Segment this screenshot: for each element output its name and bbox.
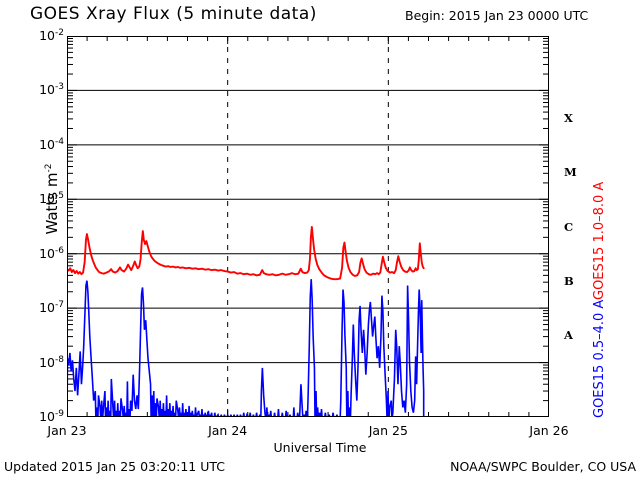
x-tick-label: Jan 24	[196, 423, 260, 438]
page-title: GOES Xray Flux (5 minute data)	[30, 4, 317, 24]
footer-updated: Updated 2015 Jan 25 03:20:11 UTC	[4, 459, 225, 474]
flare-class-label-c: C	[564, 220, 573, 234]
flare-class-label-b: B	[564, 274, 574, 288]
y-tick-label: 10-8	[20, 355, 64, 370]
flare-class-label-m: M	[564, 165, 577, 179]
y-axis-title-exponent: -2	[44, 164, 54, 173]
x-axis-title: Universal Time	[0, 440, 640, 455]
y-tick-label: 10-3	[20, 82, 64, 97]
begin-time-label: Begin: 2015 Jan 23 0000 UTC	[405, 8, 588, 23]
legend-label-red: GOES15 1.0–8.0 A	[592, 182, 607, 300]
y-tick-label: 10-2	[20, 28, 64, 43]
flare-class-label-a: A	[564, 328, 573, 342]
chart-plot-area	[67, 36, 549, 417]
flare-class-label-x: X	[564, 111, 573, 125]
y-tick-label: 10-4	[20, 137, 64, 152]
y-tick-label: 10-7	[20, 300, 64, 315]
x-tick-label: Jan 25	[356, 423, 420, 438]
x-tick-label: Jan 26	[517, 423, 581, 438]
y-tick-label: 10-9	[20, 409, 64, 424]
y-tick-label: 10-5	[20, 191, 64, 206]
y-tick-label: 10-6	[20, 246, 64, 261]
footer-source: NOAA/SWPC Boulder, CO USA	[450, 459, 636, 474]
x-tick-label: Jan 23	[35, 423, 99, 438]
legend-label-blue: GOES15 0.5–4.0 A	[592, 300, 607, 418]
plot-frame-border	[67, 36, 549, 417]
